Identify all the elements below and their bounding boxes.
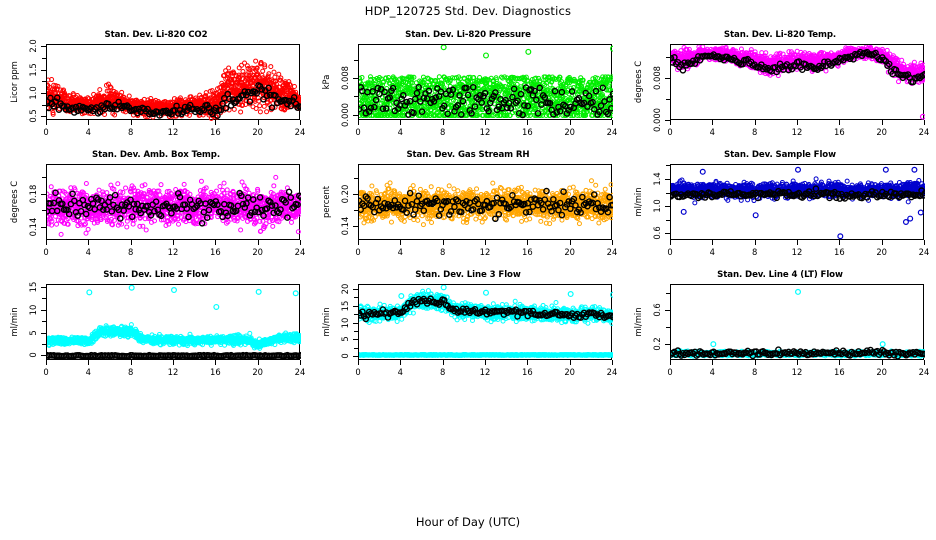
x-tick-label: 8 bbox=[128, 367, 133, 377]
x-tick-label: 20 bbox=[564, 367, 575, 377]
x-tick-mark bbox=[173, 360, 174, 365]
y-minor-tick bbox=[666, 179, 670, 180]
x-tick-mark bbox=[924, 240, 925, 245]
x-tick-mark bbox=[612, 120, 613, 125]
y-minor-tick bbox=[354, 60, 358, 61]
x-tick-mark bbox=[215, 360, 216, 365]
x-tick-mark bbox=[131, 360, 132, 365]
y-minor-tick bbox=[42, 93, 46, 94]
x-tick-mark bbox=[797, 240, 798, 245]
x-tick-mark bbox=[882, 360, 883, 365]
x-tick-mark bbox=[570, 360, 571, 365]
x-tick-mark bbox=[612, 360, 613, 365]
x-tick-mark bbox=[924, 120, 925, 125]
x-tick-label: 16 bbox=[210, 367, 221, 377]
plot-area bbox=[358, 284, 612, 360]
scatter-layer bbox=[47, 165, 301, 241]
x-tick-mark bbox=[443, 240, 444, 245]
x-tick-mark bbox=[670, 120, 671, 125]
x-tick-mark bbox=[797, 120, 798, 125]
panel-sample-flow: Stan. Dev. Sample Flowml/min0.61.01.4048… bbox=[624, 150, 936, 270]
x-tick-label: 12 bbox=[480, 127, 491, 137]
x-tick-label: 8 bbox=[440, 247, 445, 257]
x-tick-mark bbox=[88, 360, 89, 365]
y-tick-label: 1.5 bbox=[28, 63, 38, 76]
y-tick-label: 0.008 bbox=[652, 66, 662, 90]
x-tick-label: 4 bbox=[710, 127, 715, 137]
x-tick-label: 16 bbox=[522, 127, 533, 137]
y-axis-label: ml/min bbox=[633, 307, 643, 336]
x-tick-mark bbox=[173, 240, 174, 245]
figure-title: HDP_120725 Std. Dev. Diagnostics bbox=[0, 4, 936, 18]
x-tick-mark bbox=[485, 240, 486, 245]
y-tick-label: 15 bbox=[340, 300, 350, 311]
panel-line2-flow: Stan. Dev. Line 2 Flowml/min051015048121… bbox=[0, 270, 312, 390]
panel-amb-box-temp: Stan. Dev. Amb. Box Temp.degrees C0.140.… bbox=[0, 150, 312, 270]
x-tick-label: 24 bbox=[607, 247, 618, 257]
x-tick-mark bbox=[882, 240, 883, 245]
x-tick-mark bbox=[46, 120, 47, 125]
plot-area bbox=[46, 44, 300, 120]
x-tick-mark bbox=[173, 120, 174, 125]
plot-area bbox=[670, 164, 924, 240]
y-minor-tick bbox=[666, 233, 670, 234]
y-minor-tick bbox=[666, 293, 670, 294]
x-tick-mark bbox=[358, 120, 359, 125]
y-minor-tick bbox=[42, 70, 46, 71]
x-tick-label: 24 bbox=[919, 127, 930, 137]
y-minor-tick bbox=[666, 78, 670, 79]
x-tick-label: 4 bbox=[86, 247, 91, 257]
x-tick-mark bbox=[88, 120, 89, 125]
x-tick-label: 20 bbox=[252, 367, 263, 377]
x-tick-label: 24 bbox=[295, 127, 306, 137]
plot-area bbox=[358, 164, 612, 240]
x-tick-label: 0 bbox=[355, 247, 360, 257]
y-minor-tick bbox=[354, 210, 358, 211]
y-tick-label: 2.0 bbox=[28, 40, 38, 53]
y-minor-tick bbox=[42, 116, 46, 117]
y-minor-tick bbox=[42, 81, 46, 82]
panel-li820-co2: Stan. Dev. Li-820 CO2Licor ppm0.51.01.52… bbox=[0, 30, 312, 150]
y-axis-label: ml/min bbox=[633, 187, 643, 216]
scatter-layer bbox=[359, 165, 613, 241]
x-tick-mark bbox=[300, 120, 301, 125]
panel-title: Stan. Dev. Sample Flow bbox=[624, 150, 936, 160]
y-minor-tick bbox=[354, 323, 358, 324]
x-tick-label: 0 bbox=[355, 127, 360, 137]
y-minor-tick bbox=[666, 206, 670, 207]
x-tick-mark bbox=[755, 240, 756, 245]
y-axis-label: kPa bbox=[321, 75, 331, 90]
y-minor-tick bbox=[42, 344, 46, 345]
y-minor-tick bbox=[666, 220, 670, 221]
x-tick-label: 12 bbox=[792, 127, 803, 137]
y-tick-label: 0.14 bbox=[28, 218, 38, 237]
x-tick-label: 20 bbox=[876, 367, 887, 377]
x-tick-label: 8 bbox=[752, 127, 757, 137]
figure-xlabel: Hour of Day (UTC) bbox=[0, 515, 936, 529]
x-tick-label: 20 bbox=[564, 127, 575, 137]
plot-area bbox=[670, 44, 924, 120]
x-tick-label: 8 bbox=[752, 367, 757, 377]
diagnostics-figure: HDP_120725 Std. Dev. Diagnostics Stan. D… bbox=[0, 0, 936, 540]
y-axis-label: degrees C bbox=[633, 61, 643, 103]
y-minor-tick bbox=[354, 78, 358, 79]
x-tick-label: 0 bbox=[355, 367, 360, 377]
x-tick-mark bbox=[258, 120, 259, 125]
y-minor-tick bbox=[666, 310, 670, 311]
y-tick-label: 20 bbox=[340, 284, 350, 295]
y-minor-tick bbox=[354, 194, 358, 195]
x-tick-label: 16 bbox=[210, 247, 221, 257]
x-tick-mark bbox=[258, 360, 259, 365]
y-axis-label: Licor ppm bbox=[9, 61, 19, 103]
x-tick-mark bbox=[527, 240, 528, 245]
panel-li820-pressure: Stan. Dev. Li-820 PressurekPa0.0000.0080… bbox=[312, 30, 624, 150]
y-minor-tick bbox=[42, 58, 46, 59]
panel-title: Stan. Dev. Li-820 Pressure bbox=[312, 30, 624, 40]
x-tick-label: 20 bbox=[252, 127, 263, 137]
y-tick-label: 1.0 bbox=[28, 86, 38, 99]
x-tick-mark bbox=[670, 360, 671, 365]
x-tick-mark bbox=[570, 120, 571, 125]
x-tick-label: 12 bbox=[792, 367, 803, 377]
x-tick-label: 0 bbox=[43, 247, 48, 257]
x-tick-mark bbox=[797, 360, 798, 365]
y-minor-tick bbox=[666, 165, 670, 166]
x-tick-label: 12 bbox=[792, 247, 803, 257]
y-tick-label: 0 bbox=[28, 353, 38, 358]
panel-title: Stan. Dev. Li-820 Temp. bbox=[624, 30, 936, 40]
x-tick-mark bbox=[300, 360, 301, 365]
x-tick-mark bbox=[400, 360, 401, 365]
y-axis-label: percent bbox=[321, 186, 331, 218]
x-tick-mark bbox=[485, 360, 486, 365]
x-tick-label: 16 bbox=[210, 127, 221, 137]
x-tick-label: 24 bbox=[295, 367, 306, 377]
x-tick-mark bbox=[882, 120, 883, 125]
y-minor-tick bbox=[42, 321, 46, 322]
x-tick-mark bbox=[215, 120, 216, 125]
plot-area bbox=[358, 44, 612, 120]
x-tick-label: 4 bbox=[86, 127, 91, 137]
x-tick-mark bbox=[258, 240, 259, 245]
x-tick-label: 20 bbox=[252, 247, 263, 257]
y-minor-tick bbox=[42, 287, 46, 288]
scatter-layer bbox=[359, 285, 613, 361]
x-tick-mark bbox=[839, 120, 840, 125]
y-tick-label: 0.5 bbox=[28, 110, 38, 123]
x-tick-label: 12 bbox=[168, 247, 179, 257]
y-minor-tick bbox=[42, 105, 46, 106]
x-tick-label: 16 bbox=[834, 127, 845, 137]
scatter-layer bbox=[47, 45, 301, 121]
y-tick-label: 0.18 bbox=[28, 184, 38, 203]
x-tick-label: 16 bbox=[522, 367, 533, 377]
y-tick-label: 0.6 bbox=[652, 303, 662, 316]
x-tick-mark bbox=[400, 240, 401, 245]
plot-area bbox=[46, 164, 300, 240]
y-minor-tick bbox=[42, 333, 46, 334]
y-tick-label: 0.6 bbox=[652, 227, 662, 240]
x-tick-label: 4 bbox=[710, 247, 715, 257]
y-minor-tick bbox=[666, 99, 670, 100]
y-minor-tick bbox=[354, 331, 358, 332]
scatter-layer bbox=[671, 285, 925, 361]
x-tick-label: 16 bbox=[834, 247, 845, 257]
y-tick-label: 15 bbox=[28, 281, 38, 292]
x-tick-mark bbox=[358, 240, 359, 245]
x-tick-mark bbox=[443, 360, 444, 365]
scatter-layer bbox=[359, 45, 613, 121]
y-minor-tick bbox=[42, 46, 46, 47]
y-minor-tick bbox=[42, 310, 46, 311]
scatter-layer bbox=[671, 45, 925, 121]
x-tick-label: 24 bbox=[607, 367, 618, 377]
panel-title: Stan. Dev. Li-820 CO2 bbox=[0, 30, 312, 40]
y-tick-label: 5 bbox=[340, 337, 350, 342]
y-minor-tick bbox=[354, 115, 358, 116]
x-tick-mark bbox=[712, 360, 713, 365]
y-axis-label: degrees C bbox=[9, 181, 19, 223]
x-tick-label: 8 bbox=[752, 247, 757, 257]
x-tick-mark bbox=[839, 240, 840, 245]
y-minor-tick bbox=[42, 355, 46, 356]
x-tick-mark bbox=[612, 240, 613, 245]
y-minor-tick bbox=[354, 348, 358, 349]
y-minor-tick bbox=[42, 298, 46, 299]
x-tick-mark bbox=[215, 240, 216, 245]
x-tick-mark bbox=[358, 360, 359, 365]
scatter-layer bbox=[671, 165, 925, 241]
x-tick-mark bbox=[485, 120, 486, 125]
y-minor-tick bbox=[354, 356, 358, 357]
x-tick-label: 0 bbox=[667, 367, 672, 377]
y-tick-label: 1.0 bbox=[652, 199, 662, 212]
x-tick-label: 4 bbox=[398, 247, 403, 257]
y-minor-tick bbox=[354, 96, 358, 97]
y-minor-tick bbox=[354, 289, 358, 290]
y-minor-tick bbox=[354, 306, 358, 307]
x-tick-mark bbox=[131, 240, 132, 245]
x-tick-label: 12 bbox=[480, 247, 491, 257]
x-tick-label: 8 bbox=[128, 247, 133, 257]
y-tick-label: 0.14 bbox=[340, 217, 350, 236]
x-tick-mark bbox=[924, 360, 925, 365]
y-minor-tick bbox=[354, 339, 358, 340]
y-tick-label: 1.4 bbox=[652, 172, 662, 185]
x-tick-label: 4 bbox=[86, 367, 91, 377]
scatter-layer bbox=[47, 285, 301, 361]
y-axis-label: ml/min bbox=[321, 307, 331, 336]
plot-area bbox=[46, 284, 300, 360]
y-tick-label: 0 bbox=[340, 353, 350, 358]
y-tick-label: 0.000 bbox=[340, 103, 350, 127]
x-tick-label: 20 bbox=[876, 127, 887, 137]
x-tick-mark bbox=[527, 120, 528, 125]
x-tick-label: 0 bbox=[43, 367, 48, 377]
x-tick-label: 12 bbox=[168, 367, 179, 377]
x-tick-label: 8 bbox=[440, 367, 445, 377]
y-tick-label: 0.000 bbox=[652, 108, 662, 132]
x-tick-label: 24 bbox=[607, 127, 618, 137]
y-axis-label: ml/min bbox=[9, 307, 19, 336]
x-tick-label: 20 bbox=[564, 247, 575, 257]
y-minor-tick bbox=[666, 193, 670, 194]
y-minor-tick bbox=[42, 210, 46, 211]
x-tick-mark bbox=[755, 360, 756, 365]
x-tick-mark bbox=[300, 240, 301, 245]
x-tick-label: 4 bbox=[710, 367, 715, 377]
y-tick-label: 10 bbox=[340, 317, 350, 328]
x-tick-label: 16 bbox=[834, 367, 845, 377]
y-minor-tick bbox=[354, 178, 358, 179]
x-tick-mark bbox=[712, 240, 713, 245]
x-tick-mark bbox=[527, 360, 528, 365]
x-tick-label: 24 bbox=[919, 367, 930, 377]
y-minor-tick bbox=[42, 177, 46, 178]
x-tick-mark bbox=[46, 240, 47, 245]
x-tick-mark bbox=[712, 120, 713, 125]
y-minor-tick bbox=[354, 226, 358, 227]
y-minor-tick bbox=[666, 57, 670, 58]
plot-area bbox=[670, 284, 924, 360]
x-tick-mark bbox=[839, 360, 840, 365]
y-tick-label: 0.2 bbox=[652, 338, 662, 351]
x-tick-mark bbox=[670, 240, 671, 245]
x-tick-label: 20 bbox=[876, 247, 887, 257]
x-tick-mark bbox=[46, 360, 47, 365]
x-tick-label: 0 bbox=[667, 127, 672, 137]
x-tick-label: 0 bbox=[667, 247, 672, 257]
y-tick-label: 5 bbox=[28, 330, 38, 335]
x-tick-mark bbox=[755, 120, 756, 125]
x-tick-label: 4 bbox=[398, 367, 403, 377]
y-minor-tick bbox=[42, 194, 46, 195]
y-tick-label: 10 bbox=[28, 304, 38, 315]
panel-line4-lt-flow: Stan. Dev. Line 4 (LT) Flowml/min0.20.60… bbox=[624, 270, 936, 390]
x-tick-label: 12 bbox=[168, 127, 179, 137]
panel-title: Stan. Dev. Line 2 Flow bbox=[0, 270, 312, 280]
x-tick-label: 4 bbox=[398, 127, 403, 137]
x-tick-label: 8 bbox=[440, 127, 445, 137]
y-minor-tick bbox=[666, 344, 670, 345]
x-tick-mark bbox=[88, 240, 89, 245]
y-minor-tick bbox=[666, 327, 670, 328]
panel-title: Stan. Dev. Amb. Box Temp. bbox=[0, 150, 312, 160]
y-minor-tick bbox=[354, 314, 358, 315]
y-tick-label: 0.008 bbox=[340, 66, 350, 90]
panel-title: Stan. Dev. Line 3 Flow bbox=[312, 270, 624, 280]
y-tick-label: 0.20 bbox=[340, 185, 350, 204]
x-tick-mark bbox=[400, 120, 401, 125]
panel-li820-temp: Stan. Dev. Li-820 Temp.degrees C0.0000.0… bbox=[624, 30, 936, 150]
y-minor-tick bbox=[354, 297, 358, 298]
x-tick-mark bbox=[443, 120, 444, 125]
x-tick-label: 24 bbox=[919, 247, 930, 257]
panel-line3-flow: Stan. Dev. Line 3 Flowml/min051015200481… bbox=[312, 270, 624, 390]
x-tick-mark bbox=[570, 240, 571, 245]
y-minor-tick bbox=[42, 227, 46, 228]
panel-title: Stan. Dev. Gas Stream RH bbox=[312, 150, 624, 160]
x-tick-label: 8 bbox=[128, 127, 133, 137]
panel-title: Stan. Dev. Line 4 (LT) Flow bbox=[624, 270, 936, 280]
panel-gas-stream-rh: Stan. Dev. Gas Stream RHpercent0.140.200… bbox=[312, 150, 624, 270]
x-tick-label: 24 bbox=[295, 247, 306, 257]
x-tick-label: 0 bbox=[43, 127, 48, 137]
x-tick-label: 16 bbox=[522, 247, 533, 257]
x-tick-mark bbox=[131, 120, 132, 125]
x-tick-label: 12 bbox=[480, 367, 491, 377]
